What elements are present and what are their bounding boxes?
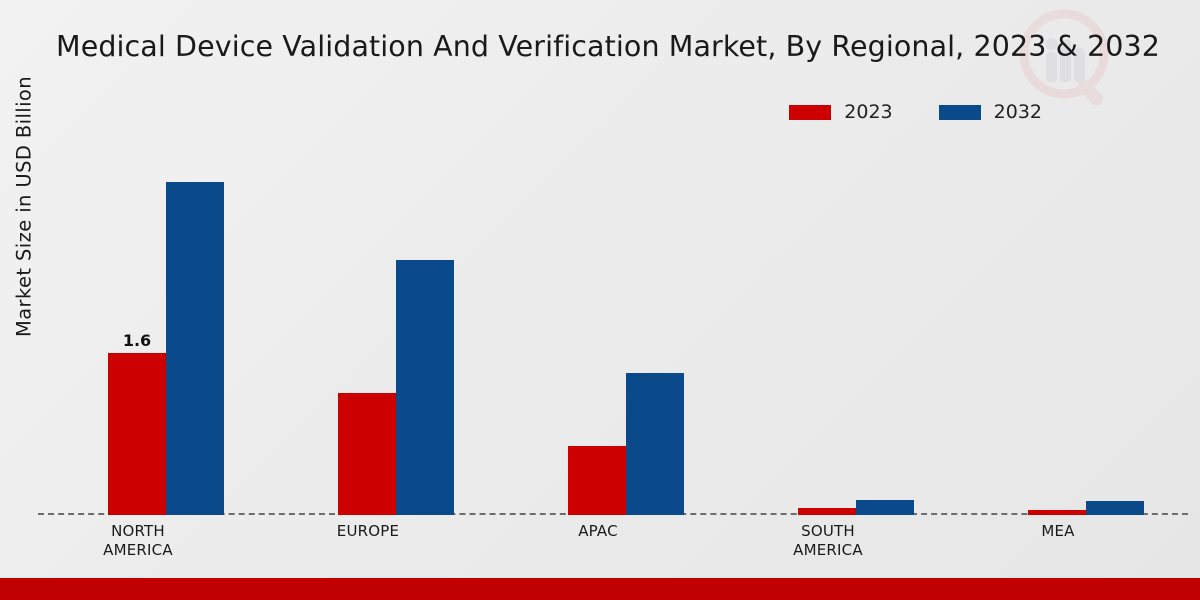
bar-group-north-america: 1.6 NORTHAMERICA	[38, 150, 268, 515]
bar-2023-north-america[interactable]	[108, 353, 166, 515]
bar-value-label-north-america: 1.6	[108, 333, 166, 349]
legend-swatch-2023-icon	[789, 105, 831, 120]
legend-label-2032: 2032	[994, 103, 1042, 122]
bar-2032-mea[interactable]	[1086, 501, 1144, 515]
bar-2032-apac[interactable]	[626, 373, 684, 515]
category-label-north-america: NORTHAMERICA	[82, 522, 194, 560]
legend-label-2023: 2023	[844, 103, 892, 122]
bar-2032-europe[interactable]	[396, 260, 454, 516]
plot-area: 1.6 NORTHAMERICA EUROPE APAC SOUTHAMERIC…	[38, 150, 1188, 515]
chart-legend: 2023 2032	[789, 103, 1042, 122]
bar-group-europe: EUROPE	[268, 150, 498, 515]
legend-swatch-2032-icon	[939, 105, 981, 120]
category-label-europe: EUROPE	[312, 522, 424, 541]
legend-item-2032[interactable]: 2032	[939, 103, 1042, 122]
category-label-south-america: SOUTHAMERICA	[772, 522, 884, 560]
bar-2032-north-america[interactable]	[166, 182, 224, 515]
bar-2032-south-america[interactable]	[856, 500, 914, 515]
category-label-mea: MEA	[1002, 522, 1114, 541]
category-label-apac: APAC	[542, 522, 654, 541]
bar-pair	[798, 150, 914, 515]
bar-pair	[338, 150, 454, 515]
bar-pair	[1028, 150, 1144, 515]
bar-group-mea: MEA	[958, 150, 1188, 515]
bar-pair	[568, 150, 684, 515]
legend-item-2023[interactable]: 2023	[789, 103, 892, 122]
bar-2023-europe[interactable]	[338, 393, 396, 515]
chart-title: Medical Device Validation And Verificati…	[56, 30, 1186, 63]
bar-2023-apac[interactable]	[568, 446, 626, 515]
bar-2023-mea[interactable]	[1028, 510, 1086, 515]
bar-group-apac: APAC	[498, 150, 728, 515]
bar-group-south-america: SOUTHAMERICA	[728, 150, 958, 515]
bar-2023-south-america[interactable]	[798, 508, 856, 515]
y-axis-title: Market Size in USD Billion	[13, 17, 36, 397]
footer-accent-bar	[0, 578, 1200, 600]
